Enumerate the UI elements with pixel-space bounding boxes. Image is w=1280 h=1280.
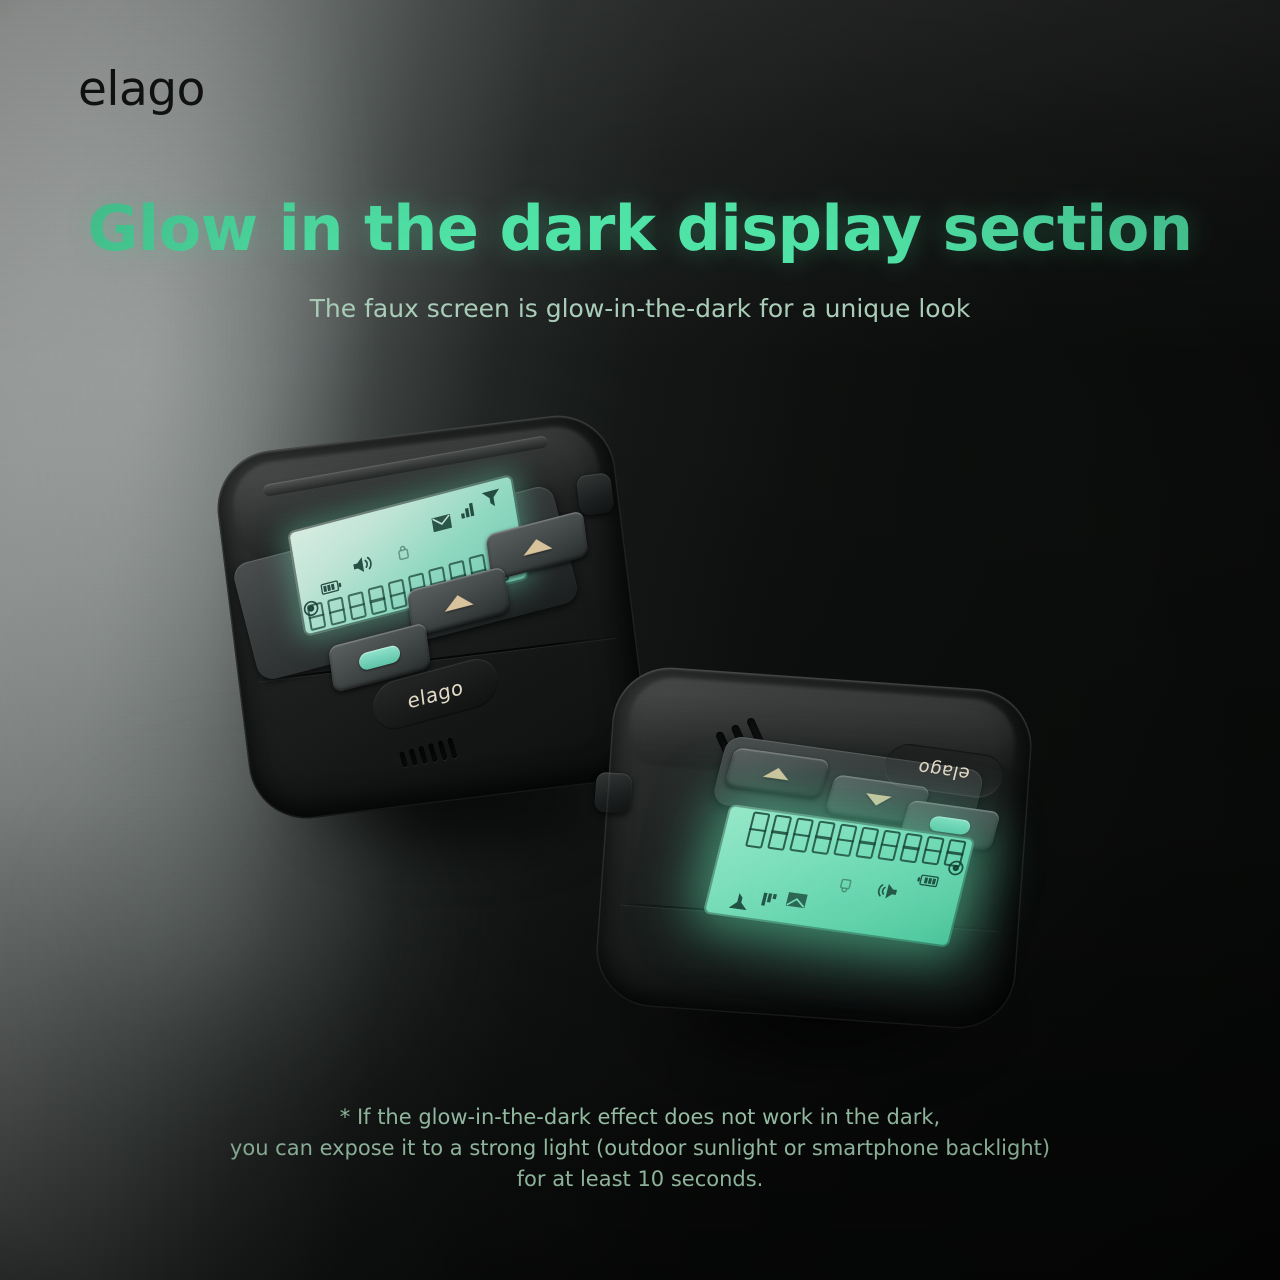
footnote: * If the glow-in-the-dark effect does no…	[0, 1102, 1280, 1195]
arrow-down-icon	[863, 793, 892, 807]
envelope-icon	[431, 514, 452, 533]
power-pill-icon	[358, 644, 401, 671]
footnote-line-1: * If the glow-in-the-dark effect does no…	[0, 1102, 1280, 1133]
promo-stage: elago Glow in the dark display section T…	[0, 0, 1280, 1280]
arrow-up-icon	[763, 766, 792, 780]
arrow-up-icon	[522, 535, 553, 555]
page-subtitle: The faux screen is glow-in-the-dark for …	[0, 294, 1280, 323]
alarm-icon	[838, 878, 852, 893]
alarm-icon	[397, 544, 410, 561]
signal-bars-icon	[757, 892, 777, 909]
battery-icon	[916, 874, 939, 888]
signal-bars-icon	[459, 500, 478, 519]
device-b-side-nub	[594, 771, 633, 813]
footnote-line-3: for at least 10 seconds.	[0, 1164, 1280, 1195]
arrow-up-icon	[443, 591, 474, 611]
page-title: Glow in the dark display section	[0, 192, 1280, 265]
speaker-icon	[352, 554, 375, 574]
antenna-icon	[729, 892, 751, 910]
envelope-icon	[786, 892, 808, 908]
device-a-emboss-logo-text: elago	[406, 675, 465, 714]
speaker-icon	[874, 882, 898, 900]
footnote-line-2: you can expose it to a strong light (out…	[0, 1133, 1280, 1164]
device-b-emboss-logo-text: elago	[915, 757, 972, 785]
product-pager-case-lower: elago	[593, 664, 1036, 1032]
brand-logo: elago	[78, 62, 205, 117]
device-a-side-nub	[576, 472, 615, 516]
product-pager-case-upper: elago	[211, 409, 653, 825]
antenna-icon	[482, 489, 502, 509]
